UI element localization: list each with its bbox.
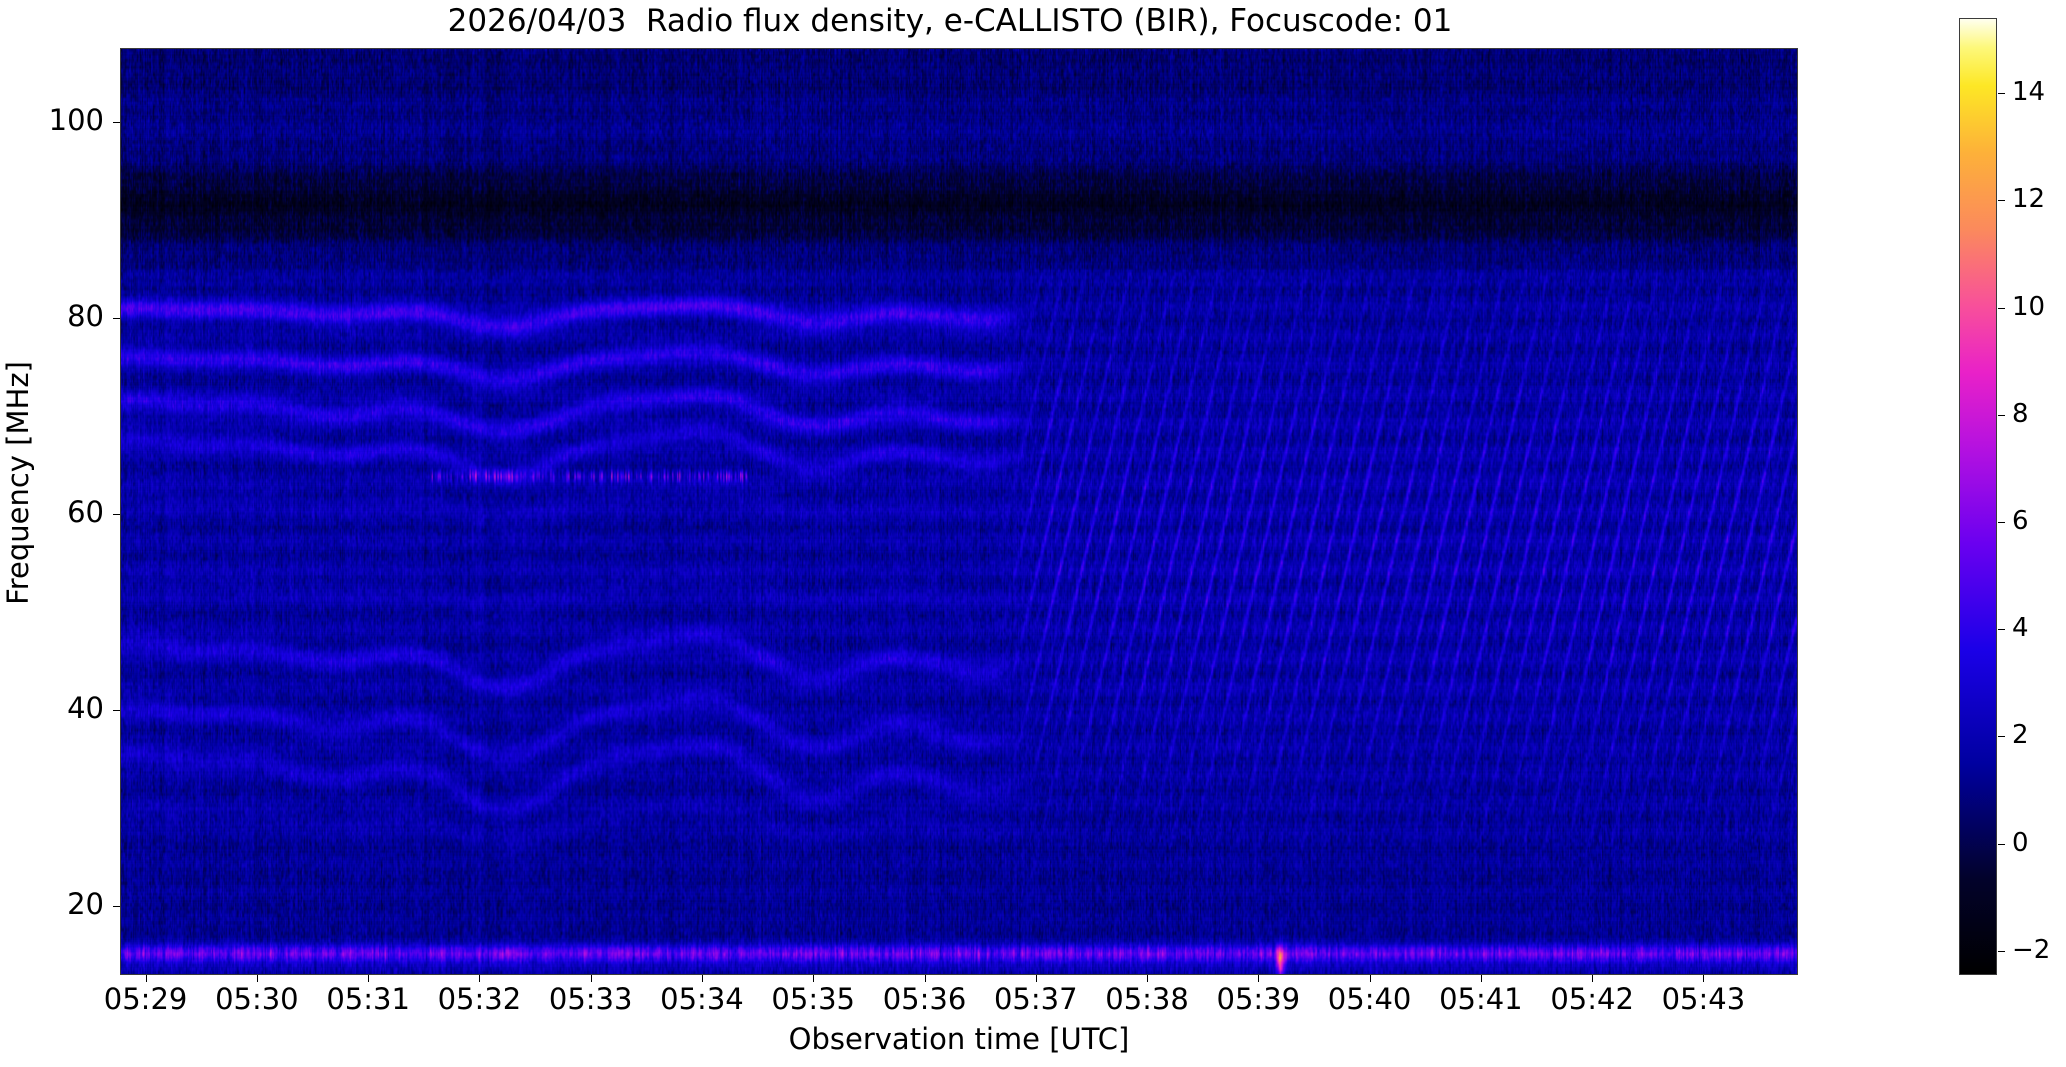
y-tick-label: 100: [14, 103, 104, 137]
x-tick-mark: [146, 975, 147, 982]
colorbar-tick-label: 2: [2012, 720, 2066, 750]
x-tick-mark: [1036, 975, 1037, 982]
colorbar-tick-mark: [1998, 736, 2005, 737]
page-title: 2026/04/03 Radio flux density, e-CALLIST…: [0, 3, 1900, 39]
colorbar-tick-label: 10: [2012, 292, 2066, 322]
colorbar-tick-label: 8: [2012, 399, 2066, 429]
colorbar-tick-mark: [1998, 522, 2005, 523]
x-tick-mark: [1481, 975, 1482, 982]
x-tick-mark: [1703, 975, 1704, 982]
colorbar-tick-mark: [1998, 951, 2005, 952]
y-tick-mark: [113, 122, 120, 123]
y-tick-mark: [113, 514, 120, 515]
y-tick-label: 80: [14, 299, 104, 333]
y-axis-label: Frequency [MHz]: [1, 18, 35, 948]
colorbar-tick-mark: [1998, 844, 2005, 845]
x-tick-mark: [368, 975, 369, 982]
y-tick-label: 40: [14, 691, 104, 725]
colorbar-gradient: [1960, 19, 1996, 974]
colorbar-tick-mark: [1998, 93, 2005, 94]
colorbar-tick-label: 6: [2012, 506, 2066, 536]
x-tick-mark: [591, 975, 592, 982]
colorbar-tick-label: −2: [2012, 935, 2066, 965]
x-tick-mark: [1147, 975, 1148, 982]
colorbar-tick-label: 4: [2012, 613, 2066, 643]
x-tick-mark: [702, 975, 703, 982]
y-tick-label: 20: [14, 887, 104, 921]
y-tick-mark: [113, 906, 120, 907]
colorbar[interactable]: [1959, 18, 1997, 975]
x-tick-mark: [479, 975, 480, 982]
colorbar-tick-mark: [1998, 629, 2005, 630]
y-tick-mark: [113, 318, 120, 319]
colorbar-tick-label: 14: [2012, 77, 2066, 107]
colorbar-tick-mark: [1998, 308, 2005, 309]
colorbar-tick-mark: [1998, 200, 2005, 201]
y-tick-label: 60: [14, 495, 104, 529]
x-tick-mark: [257, 975, 258, 982]
x-tick-mark: [1592, 975, 1593, 982]
spectrogram-heatmap[interactable]: [121, 49, 1797, 974]
x-tick-mark: [1370, 975, 1371, 982]
colorbar-tick-label: 12: [2012, 184, 2066, 214]
x-tick-mark: [1258, 975, 1259, 982]
x-tick-mark: [813, 975, 814, 982]
colorbar-tick-mark: [1998, 415, 2005, 416]
spectrogram-figure: 2026/04/03 Radio flux density, e-CALLIST…: [0, 0, 2066, 1067]
colorbar-tick-label: 0: [2012, 828, 2066, 858]
y-tick-mark: [113, 710, 120, 711]
x-tick-label: 05:43: [1633, 982, 1773, 1016]
spectrogram-axes[interactable]: [120, 48, 1798, 975]
x-axis-label: Observation time [UTC]: [120, 1022, 1798, 1056]
x-tick-mark: [925, 975, 926, 982]
